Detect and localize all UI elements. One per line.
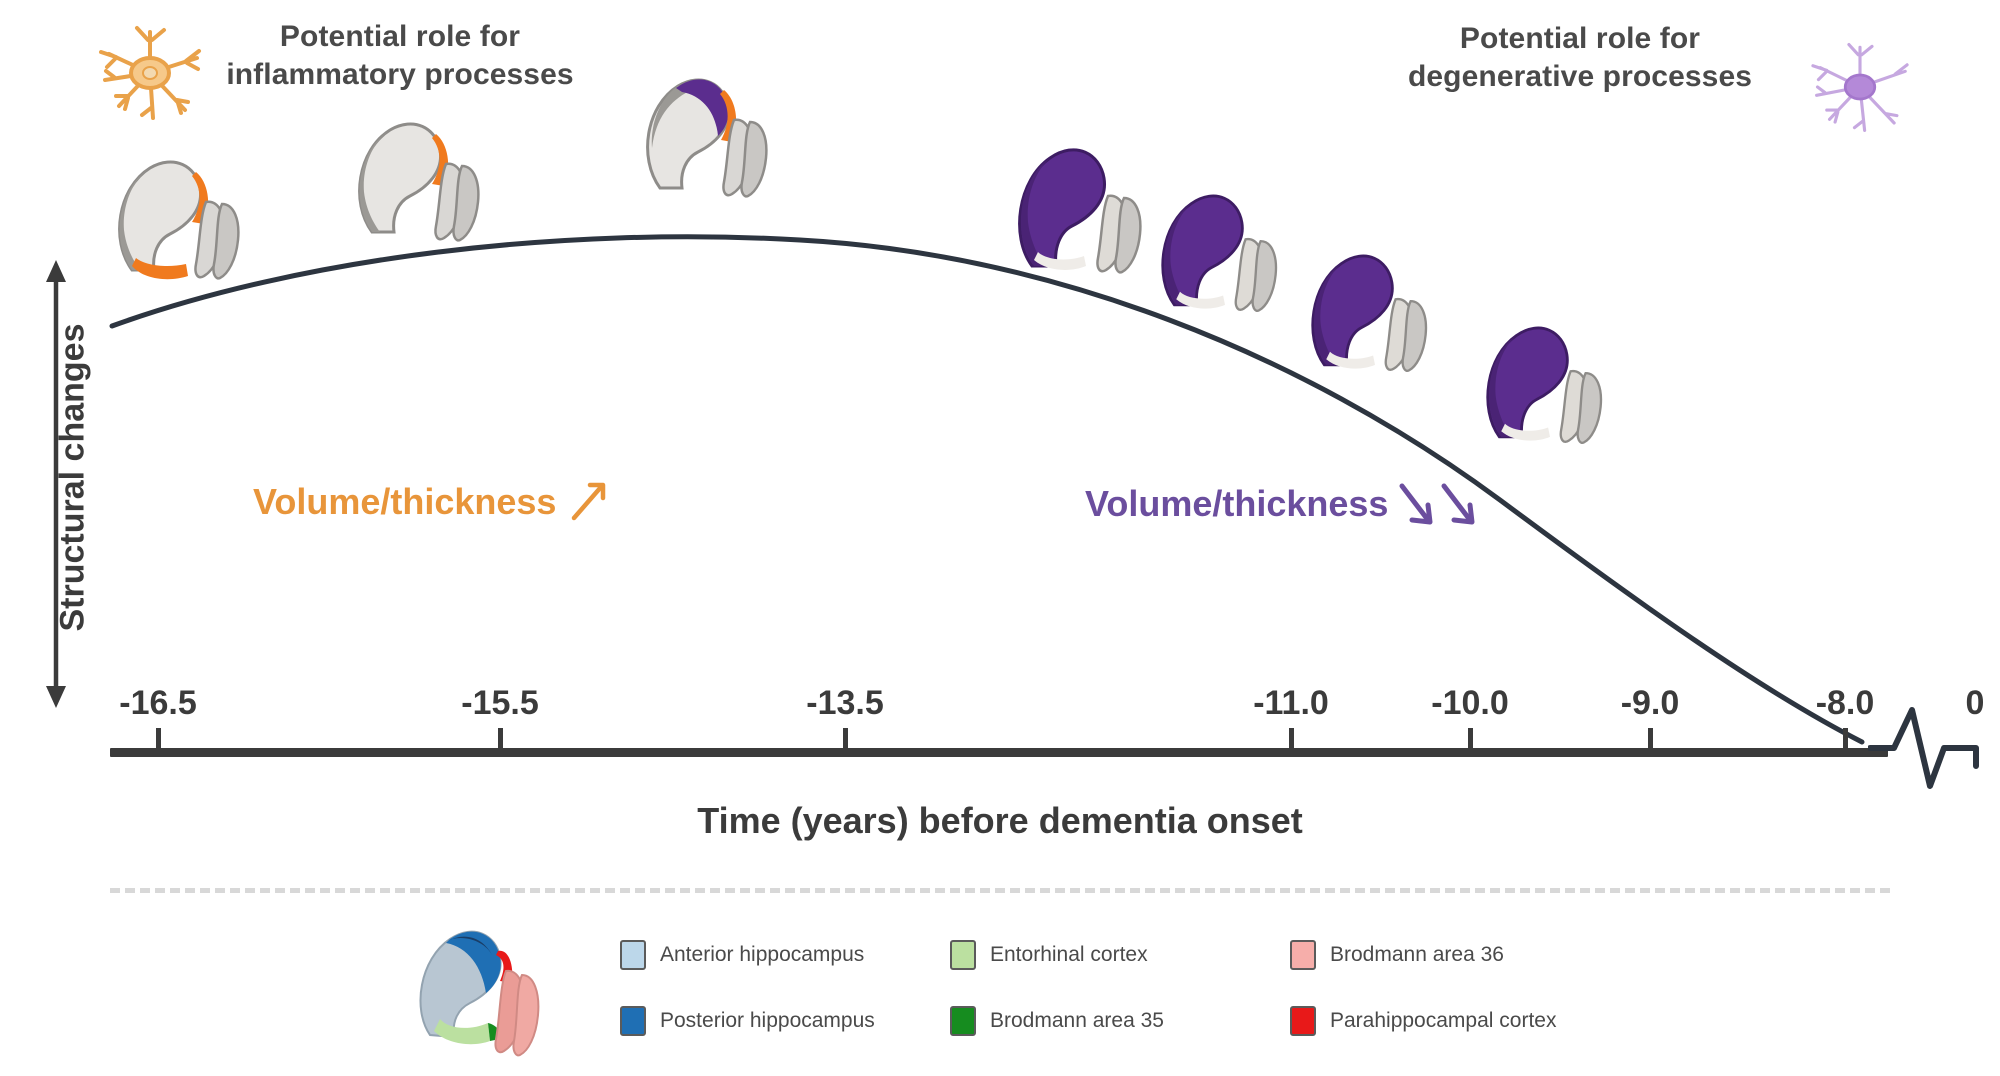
brain-icon-stage-7 bbox=[1460, 300, 1610, 450]
legend-item-label: Parahippocampal cortex bbox=[1330, 1009, 1556, 1033]
legend-item-label: Posterior hippocampus bbox=[660, 1009, 875, 1033]
axis-break-icon bbox=[1868, 700, 1988, 810]
annotation-volume-decrease-label: Volume/thickness bbox=[1085, 483, 1388, 525]
brain-icon-stage-6 bbox=[1285, 228, 1435, 378]
legend-divider bbox=[110, 888, 1890, 893]
legend-item: Anterior hippocampus bbox=[620, 940, 950, 970]
annotation-volume-decrease: Volume/thickness bbox=[1085, 478, 1482, 530]
legend-swatch-icon bbox=[620, 1006, 646, 1036]
x-tick-6 bbox=[1843, 728, 1848, 748]
x-axis-label: Time (years) before dementia onset bbox=[110, 800, 1890, 842]
arrow-up-right-icon bbox=[564, 478, 612, 526]
legend-item: Parahippocampal cortex bbox=[1290, 1006, 1620, 1036]
legend-swatch-icon bbox=[950, 940, 976, 970]
legend-item-label: Brodmann area 35 bbox=[990, 1009, 1164, 1033]
y-axis-label: Structural changes bbox=[54, 258, 93, 698]
annotation-volume-increase-label: Volume/thickness bbox=[253, 481, 556, 523]
legend-swatch-icon bbox=[950, 1006, 976, 1036]
arrow-down-right-icon bbox=[1396, 478, 1482, 530]
legend-item: Brodmann area 36 bbox=[1290, 940, 1620, 970]
y-axis: Structural changes bbox=[36, 258, 96, 710]
x-tick-label-2: -13.5 bbox=[806, 684, 884, 723]
x-tick-0 bbox=[156, 728, 161, 748]
legend-item-label: Entorhinal cortex bbox=[990, 943, 1148, 967]
legend-item-label: Anterior hippocampus bbox=[660, 943, 864, 967]
legend-item: Entorhinal cortex bbox=[950, 940, 1290, 970]
legend-swatch-icon bbox=[1290, 940, 1316, 970]
annotation-volume-increase: Volume/thickness bbox=[253, 478, 612, 526]
x-tick-label-4: -10.0 bbox=[1431, 684, 1509, 723]
x-tick-label-3: -11.0 bbox=[1253, 684, 1329, 723]
brain-regions-icon bbox=[400, 905, 570, 1070]
x-tick-label-6: -8.0 bbox=[1816, 684, 1875, 723]
x-tick-2 bbox=[843, 728, 848, 748]
legend: Anterior hippocampusEntorhinal cortexBro… bbox=[620, 922, 1620, 1054]
brain-icon-stage-4 bbox=[990, 120, 1150, 280]
x-axis-line bbox=[110, 748, 1888, 757]
x-tick-5 bbox=[1648, 728, 1653, 748]
legend-item: Posterior hippocampus bbox=[620, 1006, 950, 1036]
figure-canvas: Potential role for inflammatory processe… bbox=[0, 0, 2000, 1076]
legend-item-label: Brodmann area 36 bbox=[1330, 943, 1504, 967]
x-tick-label-1: -15.5 bbox=[461, 684, 539, 723]
x-tick-label-5: -9.0 bbox=[1621, 684, 1680, 723]
legend-swatch-icon bbox=[620, 940, 646, 970]
brain-icon-stage-1 bbox=[92, 130, 252, 290]
brain-icon-stage-3 bbox=[620, 48, 780, 208]
x-tick-3 bbox=[1289, 728, 1294, 748]
legend-swatch-icon bbox=[1290, 1006, 1316, 1036]
brain-icon-stage-2 bbox=[332, 92, 492, 252]
x-tick-4 bbox=[1468, 728, 1473, 748]
legend-item: Brodmann area 35 bbox=[950, 1006, 1290, 1036]
brain-icon-stage-5 bbox=[1135, 168, 1285, 318]
x-tick-1 bbox=[498, 728, 503, 748]
x-tick-label-0: -16.5 bbox=[119, 684, 197, 723]
